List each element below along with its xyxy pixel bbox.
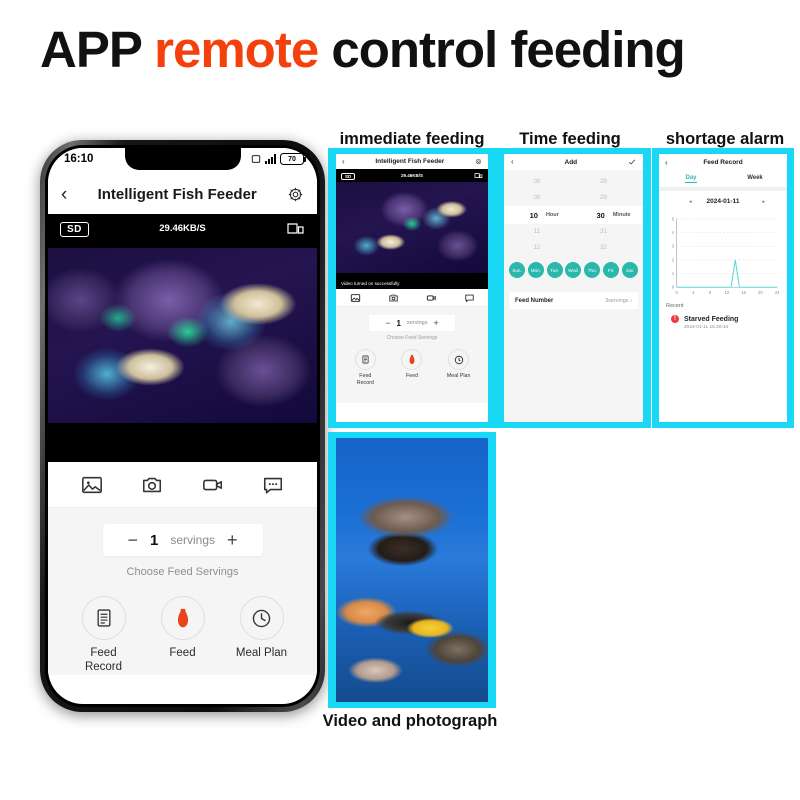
camera-icon[interactable] — [140, 474, 164, 496]
clock-icon — [454, 355, 464, 365]
minute-option-1[interactable]: 29 — [571, 195, 607, 201]
mini-meal-plan-circle — [448, 349, 469, 370]
mini-app-bar: ‹ Intelligent Fish Feeder — [336, 154, 488, 169]
selected-date: 2024-01-11 — [707, 198, 740, 205]
hour-option-4[interactable]: 12 — [504, 245, 540, 251]
feed-record-button[interactable]: Feed Record — [68, 596, 140, 675]
meal-plan-circle — [240, 596, 284, 640]
mini-feed-record-button[interactable]: Feed Record — [347, 349, 383, 387]
feed-record-circle — [82, 596, 126, 640]
day-pill-wed[interactable]: Wed. — [565, 262, 581, 278]
mini-feed-label: Feed — [394, 373, 430, 380]
picker-selected-row[interactable]: 10 Hour 30 Minute — [504, 206, 643, 224]
mini-aquarium-frame — [336, 182, 488, 273]
video-overlay-top: SD 29.46KB/S — [48, 214, 317, 248]
hour-option-0[interactable]: 08 — [504, 179, 540, 185]
action-buttons: Feed Record Feed — [48, 596, 317, 675]
svg-text:24: 24 — [775, 290, 780, 295]
svg-text:16: 16 — [741, 290, 746, 295]
mini-action-buttons: Feed Record Feed — [336, 349, 488, 387]
video-photograph-frame — [328, 432, 496, 708]
page-title: APP remote control feeding — [40, 18, 770, 82]
chevron-left-icon[interactable]: ‹ — [61, 185, 67, 204]
chat-icon[interactable] — [464, 293, 475, 303]
main-phone-mockup: 16:10 70 ‹ Intelligent Fish Feeder — [40, 140, 325, 712]
mini-meal-plan-label: Meal Plan — [441, 373, 477, 380]
reef-photo-screen[interactable] — [336, 438, 488, 702]
hour-option-1[interactable]: 09 — [504, 195, 540, 201]
servings-stepper[interactable]: − 1 servings + — [103, 524, 263, 556]
app-title: Intelligent Fish Feeder — [98, 186, 257, 203]
time-app-title: Add — [565, 159, 578, 166]
mini-app-title: Intelligent Fish Feeder — [375, 158, 444, 165]
feed-record-chart: 01 23 45 04 812 1620 24 — [665, 211, 781, 299]
mini-meal-plan-button[interactable]: Meal Plan — [441, 349, 477, 387]
fish-icon — [174, 607, 192, 629]
choose-servings-label: Choose Feed Servings — [48, 566, 317, 578]
meal-plan-label: Meal Plan — [226, 646, 298, 660]
mini-servings-value: 1 — [397, 319, 401, 328]
svg-text:5: 5 — [672, 216, 675, 221]
mini-feed-panel: − 1 servings + Choose Feed Servings — [336, 307, 488, 403]
document-icon — [94, 608, 114, 628]
video-toast-message: Video turned on successfully — [341, 281, 399, 286]
media-toolbar — [48, 462, 317, 508]
mini-fr-line2: Record — [357, 380, 374, 386]
tab-day[interactable]: Day — [659, 171, 723, 187]
mini-increment-button[interactable]: + — [433, 319, 438, 328]
svg-text:20: 20 — [758, 290, 763, 295]
picker-row[interactable]: 11 31 — [504, 224, 643, 240]
feed-label: Feed — [147, 646, 219, 660]
live-video-area[interactable]: SD 29.46KB/S — [48, 214, 317, 462]
minute-label: Minute — [609, 212, 643, 218]
immediate-feeding-frame: ‹ Intelligent Fish Feeder SD 29.46KB/S V… — [328, 148, 496, 428]
document-icon — [361, 355, 370, 364]
record-app-title: Feed Record — [659, 159, 787, 166]
feed-record-line1: Feed — [90, 647, 116, 659]
mini-choose-servings-label: Choose Feed Servings — [336, 335, 488, 341]
chevron-left-icon[interactable]: ‹ — [511, 158, 514, 166]
clock-icon — [251, 608, 272, 629]
feed-record-screen: ‹ Feed Record Day Week ◂ 2024-01-11 ▸ — [659, 154, 787, 422]
video-icon[interactable] — [426, 293, 437, 303]
selected-minute: 30 — [571, 211, 605, 220]
svg-text:1: 1 — [672, 271, 675, 276]
gear-icon[interactable] — [475, 158, 482, 165]
svg-text:0: 0 — [675, 290, 678, 295]
feed-number-value: 3servings › — [605, 298, 632, 304]
chart-y-ticks: 01 23 45 — [672, 216, 675, 289]
headline-prefix: APP — [40, 21, 154, 78]
record-app-bar: ‹ Feed Record — [659, 154, 787, 171]
selected-hour: 10 — [504, 211, 538, 220]
svg-text:2: 2 — [672, 257, 675, 262]
reef-photo-image — [336, 438, 488, 702]
feed-circle — [161, 596, 205, 640]
chart-gridlines — [677, 219, 778, 274]
gear-icon[interactable] — [287, 186, 304, 203]
caption-time-feeding: Time feeding — [505, 130, 635, 149]
chat-icon[interactable] — [261, 474, 285, 496]
increment-button[interactable]: + — [227, 531, 238, 549]
time-app-bar: ‹ Add — [504, 154, 643, 170]
headline-suffix: control feeding — [318, 21, 685, 78]
picker-row[interactable]: 09 29 — [504, 190, 643, 206]
minute-option-0[interactable]: 28 — [571, 179, 607, 185]
picture-in-picture-icon[interactable] — [474, 172, 483, 179]
picker-row[interactable]: 08 28 — [504, 174, 643, 190]
caption-shortage-alarm: shortage alarm — [655, 130, 795, 149]
mini-fr-line1: Feed — [359, 373, 371, 379]
day-pill-fri[interactable]: Fri. — [603, 262, 619, 278]
phone-bezel: 16:10 70 ‹ Intelligent Fish Feeder — [45, 145, 320, 707]
alert-timestamp: 2024-01-11 15:49:34 — [684, 325, 787, 330]
svg-text:0: 0 — [672, 285, 675, 290]
feed-control-panel: − 1 servings + Choose Feed Servings — [48, 508, 317, 675]
fish-icon — [408, 354, 416, 365]
chevron-right-icon: › — [630, 298, 632, 304]
app-bar: ‹ Intelligent Fish Feeder — [48, 174, 317, 214]
caption-video-photograph: Video and photograph — [320, 712, 500, 731]
decrement-button[interactable]: − — [127, 531, 138, 549]
chart-x-ticks: 04 812 1620 24 — [675, 290, 780, 295]
notch — [125, 148, 241, 170]
wifi-icon — [251, 154, 261, 164]
tab-week-label: Week — [747, 175, 763, 181]
mini-servings-unit: servings — [407, 320, 427, 326]
mini-video-area[interactable]: SD 29.46KB/S Video turned on successfull… — [336, 169, 488, 289]
immediate-feeding-screen: ‹ Intelligent Fish Feeder SD 29.46KB/S V… — [336, 154, 488, 422]
minute-option-4[interactable]: 32 — [571, 245, 607, 251]
svg-text:8: 8 — [709, 290, 712, 295]
video-icon[interactable] — [201, 474, 225, 496]
recent-label: Recent — [666, 303, 787, 309]
status-bar: 16:10 70 — [48, 148, 317, 174]
svg-text:12: 12 — [725, 290, 730, 295]
tab-day-label: Day — [685, 175, 696, 183]
feed-number-row[interactable]: Feed Number 3servings › — [509, 292, 638, 309]
servings-unit: servings — [170, 533, 215, 547]
day-pill-thu[interactable]: Thu. — [584, 262, 600, 278]
status-time: 16:10 — [64, 153, 93, 165]
video-overlay-bottom — [48, 423, 317, 462]
mini-feed-record-label: Feed Record — [347, 373, 383, 387]
check-icon[interactable] — [628, 158, 636, 166]
day-pill-mon[interactable]: Mon. — [528, 262, 544, 278]
camera-icon[interactable] — [388, 293, 399, 303]
mini-feed-circle — [401, 349, 422, 370]
svg-text:4: 4 — [692, 290, 695, 295]
battery-indicator: 70 — [280, 153, 304, 165]
servings-value: 1 — [150, 532, 158, 549]
chevron-left-icon[interactable]: ‹ — [342, 158, 345, 166]
weekday-selector: Sun. Mon. Tue. Wed. Thu. Fri. Sat. — [504, 258, 643, 284]
date-navigator: ◂ 2024-01-11 ▸ — [659, 191, 787, 209]
shortage-alarm-frame: ‹ Feed Record Day Week ◂ 2024-01-11 ▸ — [652, 148, 794, 428]
caption-immediate-feeding: immediate feeding — [336, 130, 488, 149]
picker-row[interactable]: 12 32 — [504, 240, 643, 256]
tab-week[interactable]: Week — [723, 171, 787, 187]
alert-title: Starved Feeding — [684, 316, 738, 323]
gallery-icon[interactable] — [350, 293, 361, 303]
mini-decrement-button[interactable]: − — [385, 319, 390, 328]
hour-label: Hour — [542, 212, 571, 218]
mini-feed-button[interactable]: Feed — [394, 349, 430, 387]
chart-svg: 01 23 45 04 812 1620 24 — [665, 211, 781, 299]
time-feeding-frame: ‹ Add 08 28 09 29 — [496, 148, 651, 428]
headline-accent: remote — [154, 21, 318, 78]
phone-screen: 16:10 70 ‹ Intelligent Fish Feeder — [48, 148, 317, 704]
status-indicators: 70 — [251, 153, 304, 165]
time-picker[interactable]: 08 28 09 29 10 Hour 30 Minute — [504, 170, 643, 258]
feed-button[interactable]: Feed — [147, 596, 219, 675]
hour-option-3[interactable]: 11 — [504, 229, 540, 235]
record-tabs: Day Week — [659, 171, 787, 187]
mini-bitrate-label: 29.46KB/S — [336, 173, 488, 178]
feed-record-label: Feed Record — [68, 646, 140, 675]
poster-root: APP remote control feeding 16:10 70 — [0, 0, 800, 800]
alert-row[interactable]: ! Starved Feeding — [671, 315, 787, 323]
day-pill-sun[interactable]: Sun. — [509, 262, 525, 278]
picture-in-picture-icon[interactable] — [286, 221, 305, 236]
feed-number-label: Feed Number — [515, 298, 553, 304]
time-feeding-screen: ‹ Add 08 28 09 29 — [504, 154, 643, 422]
day-pill-tue[interactable]: Tue. — [547, 262, 563, 278]
next-date-arrow[interactable]: ▸ — [762, 199, 765, 205]
meal-plan-button[interactable]: Meal Plan — [226, 596, 298, 675]
aquarium-video-frame — [48, 248, 317, 423]
feed-number-text: 3servings — [605, 298, 629, 304]
mini-servings-stepper[interactable]: − 1 servings + — [369, 315, 455, 331]
signal-bars-icon — [265, 154, 276, 164]
alert-icon: ! — [671, 315, 679, 323]
gallery-icon[interactable] — [80, 474, 104, 496]
bitrate-label: 29.46KB/S — [48, 223, 317, 234]
svg-text:3: 3 — [672, 244, 675, 249]
feed-record-line2: Record — [85, 661, 122, 673]
minute-option-3[interactable]: 31 — [571, 229, 607, 235]
svg-text:4: 4 — [672, 230, 675, 235]
prev-date-arrow[interactable]: ◂ — [689, 199, 692, 205]
day-pill-sat[interactable]: Sat. — [622, 262, 638, 278]
mini-media-toolbar — [336, 289, 488, 307]
mini-feed-record-circle — [355, 349, 376, 370]
